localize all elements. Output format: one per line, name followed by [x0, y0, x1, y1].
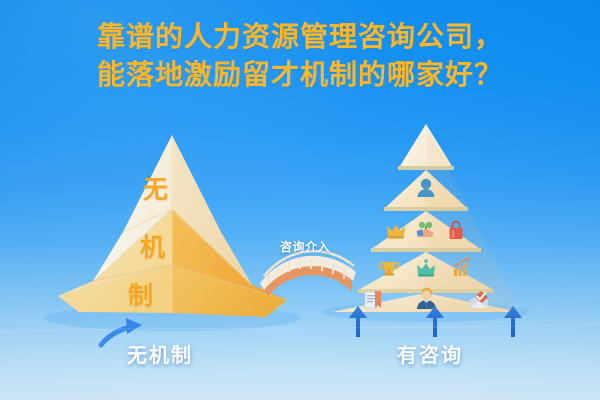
- left-pyramid: [58, 135, 287, 317]
- infographic-canvas: 靠谱的人力资源管理咨询公司， 能落地激励留才机制的哪家好？ 无 机 制 咨询介入…: [0, 0, 600, 400]
- crown-gold-icon: [387, 225, 405, 239]
- bridge: [260, 251, 356, 296]
- right-pyramid-caption: 有咨询: [330, 339, 530, 368]
- clipboard-icon: [365, 291, 381, 308]
- bridge-label: 咨询介入: [264, 238, 346, 255]
- page-title: 靠谱的人力资源管理咨询公司， 能落地激励留才机制的哪家好？: [0, 18, 600, 94]
- left-tier-1-label: 无: [143, 178, 168, 203]
- title-line-2: 能落地激励留才机制的哪家好？: [0, 56, 600, 94]
- title-line-1: 靠谱的人力资源管理咨询公司，: [0, 18, 600, 56]
- left-tier-3-label: 制: [128, 284, 153, 309]
- left-tier-2-label: 机: [140, 236, 165, 261]
- right-pyramid: [332, 124, 520, 312]
- left-pyramid-caption: 无机制: [0, 339, 320, 368]
